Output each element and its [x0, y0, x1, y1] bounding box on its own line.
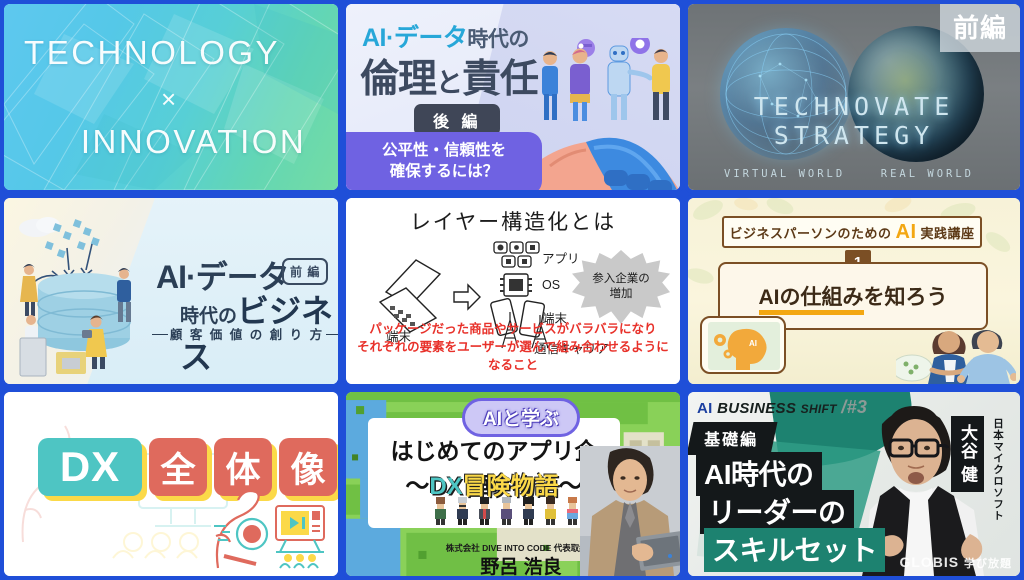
brand-letter-a: A — [697, 400, 708, 417]
subtitle: 顧 客 価 値 の 創 り 方 — [156, 324, 338, 343]
person-left — [20, 264, 38, 316]
episode-number: /#3 — [841, 397, 867, 417]
subtitle-panel: 公平性・信頼性を 確保するには？ — [346, 132, 542, 190]
brand-business: BUSINESS — [717, 400, 796, 417]
presenter-photo — [580, 446, 680, 576]
ribbon-prefix: ビジネスパーソンのための — [729, 223, 891, 242]
brand-shift: SHIFT — [801, 402, 837, 416]
footer-subtitle: 学び放題 — [964, 558, 1012, 570]
ribbon-suffix: 実践講座 — [921, 223, 975, 242]
box-char-1: 全 — [149, 438, 207, 496]
speaker-name: 大谷 健 — [951, 416, 984, 492]
subtitle-line-1: 公平性・信頼性を — [354, 141, 534, 162]
level-tag-label: 基礎編 — [704, 426, 758, 450]
thumbnail-technovate-strategy[interactable]: TECHNOVATE STRATEGY VIRTUAL WORLD REAL W… — [684, 0, 1024, 194]
thumbnail-dx-adventure-story[interactable]: AIと学ぶ はじめてのアプリ企画！ ～DX冒険物語～ 株式会社 DIVE INT… — [342, 388, 684, 580]
pixel-character-icon — [476, 496, 493, 526]
title-line-2-pre: ～ — [405, 473, 429, 500]
pixel-character-icon — [454, 496, 471, 526]
brain-gears-icon: AI — [708, 322, 780, 370]
pixel-character-icon — [498, 496, 515, 526]
person-man — [957, 330, 1016, 384]
burst-line-2: 増加 — [592, 287, 650, 302]
box-char-3: 像 — [279, 438, 337, 496]
lesson-title: AIの仕組みを知ろう — [759, 281, 948, 311]
pill-rest: と学ぶ — [502, 409, 559, 430]
label-os: OS — [542, 278, 560, 292]
thumbnail-dx-overview[interactable]: DX 全 体 像 — [0, 388, 342, 580]
pixel-character-row — [432, 496, 603, 526]
thumbnail-ai-practical-course[interactable]: ビジネスパーソンのためのAI実践講座 1 AIの仕組みを知ろう AI — [684, 194, 1024, 388]
label-virtual-world: VIRTUAL WORLD — [724, 168, 845, 180]
pill-ai: AI — [483, 409, 502, 430]
thumbnail-ai-business-shift[interactable]: AI BUSINESS SHIFT /#3 基礎編 AI時代の リーダーの スキ… — [684, 388, 1024, 580]
course-ribbon: ビジネスパーソンのためのAI実践講座 — [722, 216, 982, 248]
label-app: アプリ — [542, 248, 580, 267]
slide-layer-structure[interactable]: レイヤー構造化とは — [342, 194, 684, 388]
title-line-2: INNOVATION — [81, 123, 306, 161]
burst-line-1: 参入企業の — [592, 272, 650, 287]
brand-logo: TECHNOVATE STRATEGY — [688, 92, 1020, 150]
lesson-title-emphasis: AIの仕組み — [759, 286, 864, 315]
footer-logo: GLOBIS 学び放題 — [899, 554, 1012, 571]
slide-title: レイヤー構造化とは — [346, 206, 680, 236]
series-brand: AI BUSINESS SHIFT /#3 — [697, 397, 867, 418]
title-line-1: TECHNOLOGY — [24, 34, 280, 72]
title-main-mid: と — [436, 68, 462, 98]
pixel-character-icon — [564, 496, 581, 526]
footnote-line-2: それぞれの要素をユーザーが選んで組み合わせるようになること — [352, 338, 674, 374]
title-boxes: DX 全 体 像 — [38, 438, 337, 496]
title-main-b: 責任 — [462, 58, 538, 101]
label-real-world: REAL WORLD — [881, 168, 974, 180]
footer-brand: GLOBIS — [899, 554, 959, 570]
footnote-line-1: パッケージだった商品やサービスがバラバラになり — [352, 320, 674, 338]
pixel-character-icon — [432, 496, 449, 526]
title-main: 倫理と責任 — [360, 48, 538, 104]
part-badge: 前 編 — [282, 258, 328, 285]
two-people-illustration-icon — [896, 312, 1016, 384]
thumbnail-ai-data-ethics[interactable]: AI·データ時代の 倫理と責任 後 編 公平性・信頼性を 確保するには？ — [342, 0, 684, 194]
thumbnail-technology-innovation[interactable]: TECHNOLOGY × INNOVATION — [0, 0, 342, 194]
ribbon-ai: AI — [892, 221, 921, 244]
subtitle-line-2: 確保するには？ — [354, 162, 534, 183]
title-main-a: 倫理 — [360, 58, 436, 101]
thumbnail-grid: TECHNOLOGY × INNOVATION — [0, 0, 1024, 580]
thumbnail-ai-data-business[interactable]: AI·データ 前 編 時代のビジネス 顧 客 価 値 の 創 り 方 — [0, 194, 342, 388]
svg-text:AI: AI — [749, 339, 757, 348]
box-dx: DX — [38, 438, 142, 496]
lesson-title-tail: を知ろう — [864, 286, 948, 309]
data-cylinder-illustration-icon — [12, 212, 162, 378]
speaker-organization: 日本マイクロソフト — [991, 418, 1006, 522]
head-gear-monitor-icon — [208, 492, 328, 570]
pixel-character-icon — [542, 496, 559, 526]
title-line-3: スキルセット — [704, 528, 885, 572]
box-char-2: 体 — [214, 438, 272, 496]
cross-symbol: × — [161, 84, 176, 115]
brand-letter-i: I — [708, 400, 712, 417]
level-tag: 基礎編 — [688, 422, 778, 455]
pixel-character-icon — [520, 496, 537, 526]
footnote: パッケージだった商品やサービスがバラバラになり それぞれの要素をユーザーが選んで… — [352, 320, 674, 374]
part-badge: 前編 — [940, 4, 1020, 52]
